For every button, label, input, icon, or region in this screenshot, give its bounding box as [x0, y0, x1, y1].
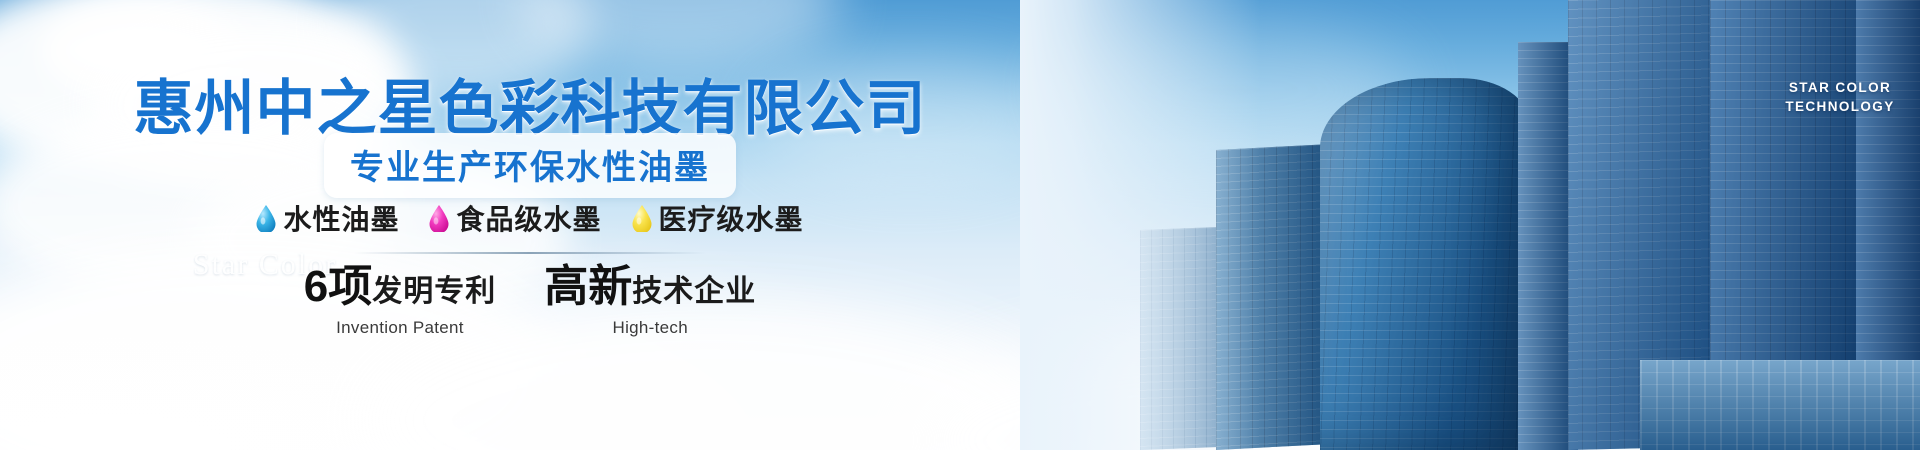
ink-type-list: 水性油墨 — [0, 198, 1060, 238]
honor-english-text: High-tech — [544, 318, 756, 338]
subtitle-badge-wrapper: 专业生产环保水性油墨 — [0, 133, 1060, 198]
water-drop-icon — [256, 205, 276, 232]
section-divider — [0, 252, 1060, 254]
water-drop-icon — [632, 205, 652, 232]
ink-type-item-food-grade: 食品级水墨 — [429, 198, 601, 238]
banner-content: 惠州中之星色彩科技有限公司 专业生产环保水性油墨 — [0, 0, 1060, 450]
ink-type-label: 食品级水墨 — [456, 198, 601, 238]
honor-rest: 技术企业 — [632, 275, 756, 308]
building-tower-curved — [1320, 78, 1530, 450]
brand-english-line2: TECHNOLOGY — [1776, 97, 1904, 116]
city-skyline-photo — [1020, 0, 1920, 450]
honor-highlight: 6项 — [304, 262, 372, 311]
honor-list: 6项发明专利 Invention Patent 高新技术企业 High-tech — [0, 265, 1060, 338]
honor-chinese-text: 6项发明专利 — [304, 265, 496, 309]
water-drop-icon — [429, 205, 449, 232]
ink-type-label: 医疗级水墨 — [659, 198, 804, 238]
honor-item-high-tech: 高新技术企业 High-tech — [544, 265, 756, 338]
honor-item-invention-patent: 6项发明专利 Invention Patent — [304, 265, 496, 338]
building-tower — [1216, 144, 1334, 450]
company-hero-banner: Star Color STAR COLOR TECHNOLOGY 惠州中之星色彩… — [0, 0, 1920, 450]
honor-highlight: 高新 — [544, 262, 632, 311]
brand-english-label: STAR COLOR TECHNOLOGY — [1776, 78, 1904, 116]
honor-chinese-text: 高新技术企业 — [544, 265, 756, 309]
brand-english-line1: STAR COLOR — [1776, 78, 1904, 97]
subtitle-badge: 专业生产环保水性油墨 — [324, 133, 736, 198]
building-podium — [1640, 360, 1920, 450]
ink-type-label: 水性油墨 — [283, 198, 399, 238]
honor-rest: 发明专利 — [372, 275, 496, 308]
ink-type-item-medical-grade: 医疗级水墨 — [632, 198, 804, 238]
ink-type-item-water-based: 水性油墨 — [256, 198, 399, 238]
honor-english-text: Invention Patent — [304, 318, 496, 338]
